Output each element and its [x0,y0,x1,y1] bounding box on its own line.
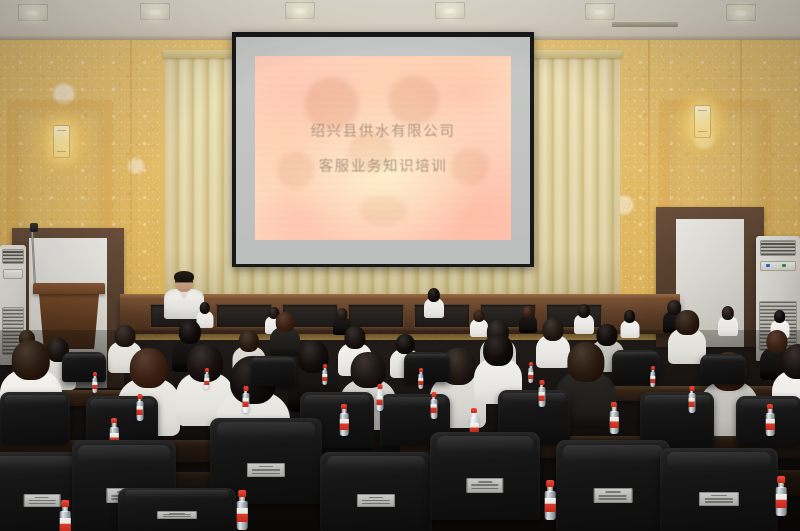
audience-chair [404,352,450,382]
water-bottle [418,368,424,389]
chair-nameplate [357,494,395,508]
nameplate-text-line [711,495,726,497]
bottle-label [92,382,97,389]
nameplate-text-line [606,491,621,493]
bottle-label [650,376,655,383]
ac-grille-top [2,249,24,265]
audience-head [12,340,50,380]
bottle-cap [238,490,246,497]
chair-nameplate [466,478,503,493]
bottle-cap [651,366,655,370]
ac-grille-top [760,240,797,256]
water-bottle [60,500,71,531]
bottle-label [545,498,555,511]
audience-head [567,342,604,382]
audience-head [624,310,636,323]
bottle-cap [611,402,617,407]
bottle-neck [244,391,248,394]
nameplate-text-line [362,500,389,501]
bottle-neck [205,372,208,375]
ceiling-spot-light-icon [726,4,756,21]
bottle-label [776,494,786,507]
audience-member [718,306,738,336]
audience-head [344,326,365,349]
bottle-cap [323,364,327,368]
audience-head [199,302,210,314]
audience-head [114,325,135,347]
dais-panel [348,304,404,328]
water-bottle [430,392,437,419]
audience-head [542,318,563,341]
bottle-label [610,417,618,428]
dais-panel [216,304,272,328]
bottle-neck [690,391,694,394]
sconce-body [53,125,70,158]
bottle-label [528,372,533,379]
water-bottle [204,368,210,389]
audience-head [351,352,386,388]
audience-chair [556,440,670,531]
ac-led-indicator [766,264,770,267]
conference-room-photo: 绍兴县供水有限公司 客服业务知识培训 [0,0,800,531]
bottle-cap [137,394,142,399]
bottle-neck [112,423,117,427]
bottle-neck [778,483,784,488]
water-bottle [528,362,534,383]
chair-nameplate [157,511,197,519]
bottle-neck [239,497,245,502]
bottle-cap [546,480,554,487]
chair-nameplate [699,492,739,506]
nameplate-text-line [252,473,279,475]
chair-nameplate [24,494,61,508]
audience-chair [660,448,778,531]
bottle-label [538,392,545,401]
ceiling-spot-light-icon [585,3,615,20]
water-bottle [237,490,248,530]
audience-head [179,320,201,344]
bottle-cap [767,404,773,409]
bottle-neck [93,376,96,379]
audience-head [675,310,699,335]
audience-head [722,306,734,320]
audience-chair [0,392,70,444]
ac-control-panel [3,269,24,279]
bottle-neck [419,372,422,375]
sconce-body [694,105,711,138]
bottle-label [340,419,348,430]
nameplate-text-line [705,501,734,503]
ac-led-indicator [782,264,786,267]
bottle-cap [431,392,436,397]
nameplate-text-line [259,466,273,468]
audience-chair [250,356,296,386]
bottle-neck [540,385,544,388]
ceiling-spot-light-icon [435,2,465,19]
audience-chair [118,488,236,531]
nameplate-text-line [599,498,627,500]
bottle-neck [323,368,326,371]
bottle-neck [138,399,142,402]
nameplate-text-line [478,481,492,483]
water-bottle [92,372,98,393]
audience-head [276,312,295,332]
presenter-hair [174,271,194,282]
ceiling-spot-light-icon [140,3,170,20]
bottle-cap [539,380,544,385]
nameplate-text-line [169,513,184,514]
bottle-cap [61,500,69,507]
bottle-cap [243,386,248,391]
bottle-neck [612,407,617,411]
bottle-cap [111,418,117,423]
audience-head [522,306,533,318]
audience-member [424,288,444,318]
bottle-cap [419,368,423,372]
bottle-cap [377,384,382,389]
nameplate-text-line [599,495,627,497]
bottle-neck [432,397,436,400]
water-bottle [340,404,349,436]
bottle-neck [547,487,553,492]
audience-chair [700,354,746,384]
water-bottle [610,402,619,434]
water-bottle [650,366,656,387]
presentation-slide: 绍兴县供水有限公司 客服业务知识培训 [255,56,511,240]
bottle-label [242,398,249,407]
bottle-neck [651,370,654,373]
audience-member [519,306,537,333]
water-bottle [322,364,328,385]
audience-head [238,330,258,352]
bottle-cap [205,368,209,372]
bottle-label [688,398,695,407]
bottle-neck [62,507,68,512]
wall-sconce-left [53,125,70,158]
bottle-neck [768,409,773,413]
water-bottle [688,386,695,413]
audience-head [428,288,440,302]
bottle-label [418,378,423,385]
audience-chair [430,432,540,520]
bottle-cap [93,372,97,376]
projection-screen: 绍兴县供水有限公司 客服业务知识培训 [232,32,534,267]
chair-nameplate [247,463,285,478]
audience-chair [62,352,106,382]
bottle-neck [529,366,532,369]
nameplate-text-line [472,484,499,486]
bottle-label [204,378,209,385]
podium-top [33,283,105,294]
microphone-icon [30,223,38,232]
nameplate-text-line [29,503,55,504]
audience-head [578,304,590,318]
water-bottle [538,380,545,407]
audience-head [483,334,513,366]
ceiling-spot-light-icon [285,2,315,19]
ceiling-vent [612,22,678,27]
water-bottle [376,384,383,411]
bottle-neck [342,409,347,413]
chair-nameplate [594,488,633,504]
bottle-label [766,419,774,430]
bottle-label [60,518,70,531]
water-bottle [766,404,775,436]
audience-chair [320,452,432,531]
bottle-cap [777,476,785,483]
water-bottle [776,476,787,516]
nameplate-text-line [362,503,389,504]
bottle-label [237,508,247,521]
bottle-label [376,396,383,405]
nameplate-text-line [163,514,192,515]
screen-surface: 绍兴县供水有限公司 客服业务知识培训 [236,37,530,264]
bottle-neck [378,389,382,392]
audience-head [336,308,347,320]
water-bottle [545,480,556,520]
bottle-label [136,406,143,415]
nameplate-text-line [163,516,192,517]
audience-head [774,310,786,323]
nameplate-text-line [369,497,383,498]
wall-sconce-right [694,105,711,138]
nameplate-text-line [252,469,279,471]
bottle-cap [341,404,347,409]
bottle-cap [529,362,533,366]
water-bottle [242,386,249,413]
nameplate-text-line [472,488,499,490]
bottle-label [322,374,327,381]
ceiling-spot-light-icon [18,4,48,21]
bottle-neck [472,413,477,417]
nameplate-text-line [29,500,55,501]
water-bottle [136,394,143,421]
bottle-cap [689,386,694,391]
nameplate-text-line [705,498,734,500]
audience-head [782,344,800,379]
audience-head [130,348,168,388]
bottle-label [430,404,437,413]
nameplate-text-line [35,497,49,498]
bottle-cap [471,408,477,413]
slide-softness-overlay [255,56,511,240]
